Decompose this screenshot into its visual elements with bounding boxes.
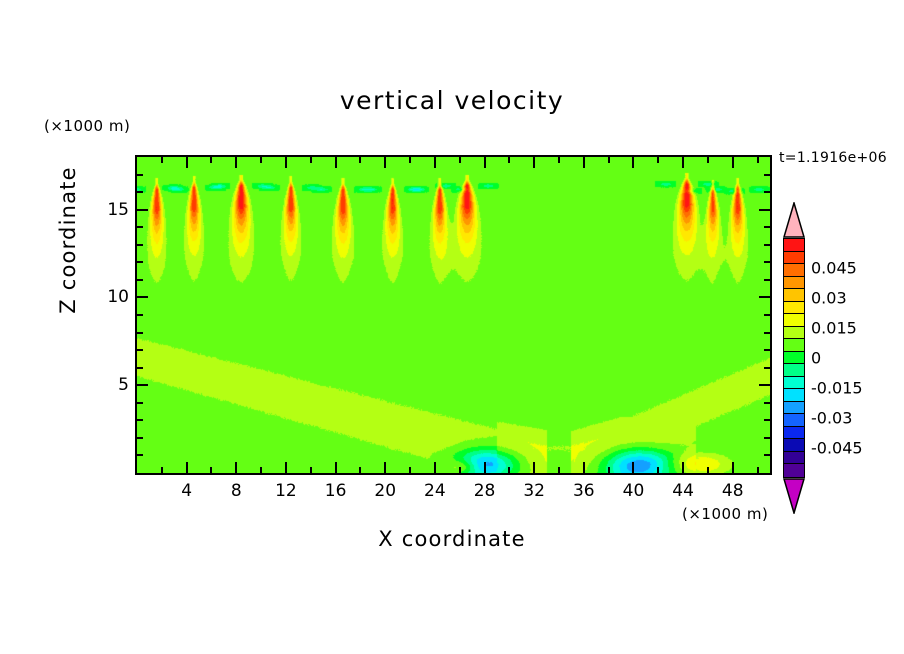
colorbar: 0.0450.030.0150-0.015-0.03-0.045 (781, 202, 807, 512)
x-tick-label: 44 (672, 481, 694, 501)
colorbar-tick-label: 0 (811, 349, 821, 368)
x-tick-label: 36 (573, 481, 595, 501)
y-tick-minor (137, 226, 143, 228)
y-tick-minor (137, 261, 143, 263)
x-tick-minor (161, 467, 163, 473)
x-tick-label: 16 (325, 481, 347, 501)
y-tick-minor-right (764, 244, 770, 246)
y-tick-minor-right (764, 174, 770, 176)
y-tick-minor (137, 332, 143, 334)
x-tick-major-top (484, 157, 486, 168)
y-tick-major-right (759, 384, 770, 386)
y-tick-minor-right (764, 419, 770, 421)
x-tick-minor (359, 467, 361, 473)
y-tick-minor (137, 314, 143, 316)
x-tick-major (484, 462, 486, 473)
x-axis-unit-label: (×1000 m) (682, 505, 768, 523)
colorbar-over-arrow (783, 202, 805, 238)
y-tick-minor-right (764, 191, 770, 193)
y-tick-major-right (759, 209, 770, 211)
x-tick-minor (210, 467, 212, 473)
x-tick-major-top (434, 157, 436, 168)
y-tick-minor (137, 174, 143, 176)
colorbar-band (784, 439, 804, 452)
x-tick-major-top (186, 157, 188, 168)
y-tick-label: 10 (93, 287, 129, 307)
time-annotation: t=1.1916e+06 (779, 150, 887, 166)
x-tick-major (384, 462, 386, 473)
colorbar-bands (783, 238, 805, 478)
x-tick-minor (459, 467, 461, 473)
y-tick-minor (137, 191, 143, 193)
colorbar-band (784, 252, 804, 265)
colorbar-band (784, 364, 804, 377)
x-tick-minor-top (210, 157, 212, 163)
x-tick-minor-top (260, 157, 262, 163)
x-tick-major-top (682, 157, 684, 168)
y-tick-minor-right (764, 314, 770, 316)
colorbar-band (784, 277, 804, 290)
y-tick-major (137, 209, 148, 211)
x-tick-minor-top (359, 157, 361, 163)
colorbar-band (784, 289, 804, 302)
y-tick-minor-right (764, 349, 770, 351)
colorbar-band (784, 464, 804, 477)
x-tick-minor (657, 467, 659, 473)
x-tick-label: 24 (424, 481, 446, 501)
y-axis-title: Z coordinate (56, 150, 80, 330)
colorbar-band (784, 339, 804, 352)
x-tick-minor (310, 467, 312, 473)
x-tick-minor-top (409, 157, 411, 163)
colorbar-tick-label: -0.015 (811, 379, 863, 398)
x-tick-major-top (285, 157, 287, 168)
x-tick-major-top (335, 157, 337, 168)
y-tick-major (137, 384, 148, 386)
x-tick-minor-top (161, 157, 163, 163)
y-tick-minor-right (764, 367, 770, 369)
x-tick-label: 8 (231, 481, 242, 501)
colorbar-band (784, 452, 804, 465)
y-tick-minor-right (764, 454, 770, 456)
x-tick-major (434, 462, 436, 473)
x-tick-label: 4 (181, 481, 192, 501)
x-tick-minor (558, 467, 560, 473)
x-tick-minor-top (707, 157, 709, 163)
y-tick-minor (137, 419, 143, 421)
colorbar-band (784, 302, 804, 315)
x-tick-minor (260, 467, 262, 473)
colorbar-tick-label: -0.045 (811, 439, 863, 458)
chart-title: vertical velocity (0, 86, 904, 115)
contour-plot-area (135, 155, 772, 475)
x-tick-minor (608, 467, 610, 473)
colorbar-band (784, 314, 804, 327)
x-tick-minor (409, 467, 411, 473)
contour-field-canvas (137, 157, 770, 473)
x-tick-label: 20 (374, 481, 396, 501)
colorbar-band (784, 239, 804, 252)
colorbar-band (784, 414, 804, 427)
y-tick-minor-right (764, 402, 770, 404)
x-tick-major-top (533, 157, 535, 168)
x-tick-major-top (384, 157, 386, 168)
y-tick-minor-right (764, 279, 770, 281)
y-tick-label: 5 (93, 375, 129, 395)
x-tick-major-top (632, 157, 634, 168)
x-tick-minor-top (657, 157, 659, 163)
x-tick-minor-top (757, 157, 759, 163)
y-tick-minor (137, 244, 143, 246)
x-tick-major (682, 462, 684, 473)
x-tick-minor-top (558, 157, 560, 163)
colorbar-tick-label: -0.03 (811, 409, 852, 428)
x-tick-major (632, 462, 634, 473)
colorbar-tick-label: 0.045 (811, 259, 857, 278)
y-tick-minor (137, 367, 143, 369)
y-tick-minor-right (764, 332, 770, 334)
x-axis-title: X coordinate (0, 527, 904, 551)
x-tick-label: 48 (722, 481, 744, 501)
x-tick-major (186, 462, 188, 473)
x-tick-minor-top (608, 157, 610, 163)
y-tick-minor (137, 437, 143, 439)
x-tick-major (235, 462, 237, 473)
colorbar-band (784, 377, 804, 390)
x-tick-major-top (583, 157, 585, 168)
y-tick-minor-right (764, 261, 770, 263)
y-tick-minor-right (764, 437, 770, 439)
colorbar-band (784, 352, 804, 365)
colorbar-band (784, 402, 804, 415)
colorbar-tick-label: 0.015 (811, 319, 857, 338)
x-tick-major (335, 462, 337, 473)
x-tick-label: 28 (474, 481, 496, 501)
x-tick-major (285, 462, 287, 473)
x-tick-major-top (732, 157, 734, 168)
x-tick-minor (757, 467, 759, 473)
y-tick-label: 15 (93, 200, 129, 220)
x-tick-label: 40 (623, 481, 645, 501)
x-tick-minor-top (508, 157, 510, 163)
x-tick-major-top (235, 157, 237, 168)
y-tick-minor (137, 279, 143, 281)
x-tick-major (533, 462, 535, 473)
y-tick-major (137, 296, 148, 298)
colorbar-band (784, 427, 804, 440)
y-tick-minor-right (764, 226, 770, 228)
x-tick-minor-top (459, 157, 461, 163)
x-tick-minor (707, 467, 709, 473)
x-tick-minor (508, 467, 510, 473)
y-tick-minor (137, 349, 143, 351)
y-tick-major-right (759, 296, 770, 298)
x-tick-label: 12 (275, 481, 297, 501)
x-tick-major (583, 462, 585, 473)
x-tick-label: 32 (523, 481, 545, 501)
y-axis-unit-label: (×1000 m) (44, 117, 130, 135)
x-tick-minor-top (310, 157, 312, 163)
colorbar-tick-label: 0.03 (811, 289, 847, 308)
y-tick-minor (137, 402, 143, 404)
colorbar-band (784, 264, 804, 277)
colorbar-band (784, 389, 804, 402)
y-tick-minor (137, 454, 143, 456)
colorbar-under-arrow (783, 478, 805, 514)
colorbar-band (784, 327, 804, 340)
x-tick-major (732, 462, 734, 473)
